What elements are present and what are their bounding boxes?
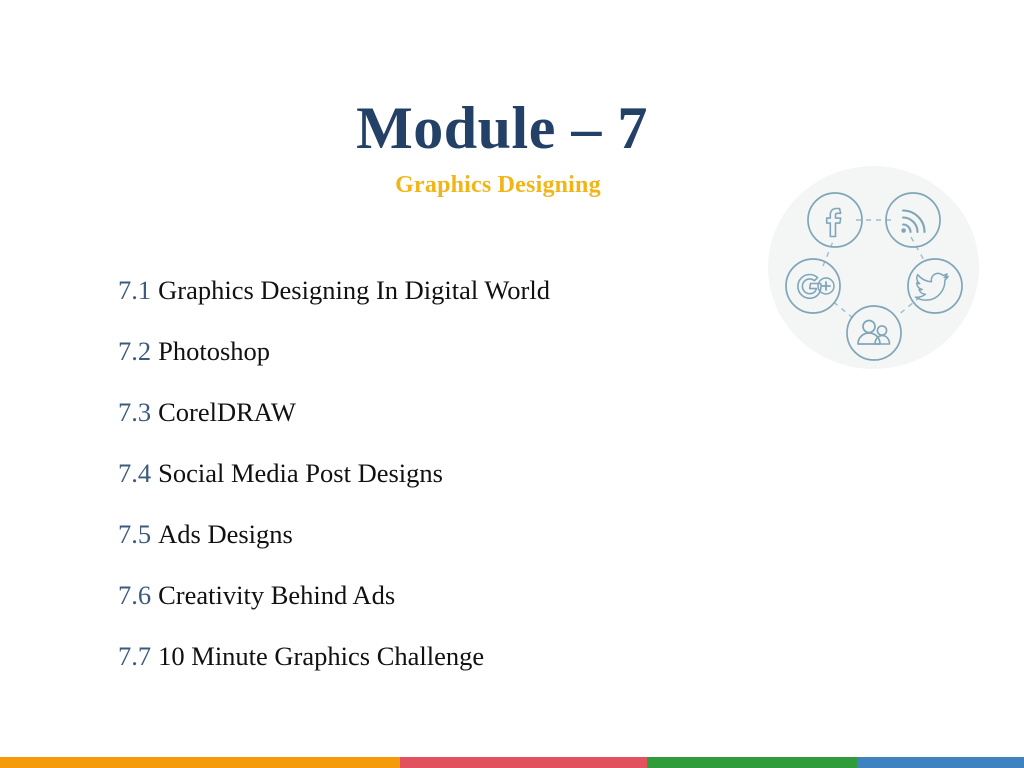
list-item-number: 7.6 — [118, 580, 151, 610]
list-item-label: Graphics Designing In Digital World — [158, 275, 550, 305]
list-item[interactable]: 7.4Social Media Post Designs — [118, 453, 758, 514]
list-item[interactable]: 7.1Graphics Designing In Digital World — [118, 270, 758, 331]
list-item-label: Photoshop — [158, 336, 270, 366]
list-item[interactable]: 7.3CorelDRAW — [118, 392, 758, 453]
list-item-number: 7.7 — [118, 641, 151, 671]
list-item[interactable]: 7.5Ads Designs — [118, 514, 758, 575]
list-item-label: 10 Minute Graphics Challenge — [158, 641, 484, 671]
color-bar-segment-red — [400, 757, 647, 768]
color-bar-segment-orange — [0, 757, 400, 768]
list-item-label: Creativity Behind Ads — [158, 580, 395, 610]
color-bar-segment-green — [647, 757, 857, 768]
contents-list: 7.1Graphics Designing In Digital World 7… — [118, 270, 758, 697]
color-bar-segment-blue — [857, 757, 1024, 768]
page-title: Module – 7 — [0, 96, 1024, 161]
bottom-color-bar — [0, 757, 1024, 768]
list-item[interactable]: 7.2Photoshop — [118, 331, 758, 392]
list-item-label: CorelDRAW — [158, 397, 296, 427]
list-item[interactable]: 7.710 Minute Graphics Challenge — [118, 636, 758, 697]
list-item-label: Ads Designs — [158, 519, 293, 549]
social-media-network-illustration — [768, 166, 979, 369]
list-item-label: Social Media Post Designs — [158, 458, 443, 488]
list-item-number: 7.3 — [118, 397, 151, 427]
list-item-number: 7.2 — [118, 336, 151, 366]
graphic-background-circle — [768, 166, 979, 369]
list-item[interactable]: 7.6Creativity Behind Ads — [118, 575, 758, 636]
list-item-number: 7.5 — [118, 519, 151, 549]
list-item-number: 7.4 — [118, 458, 151, 488]
list-item-number: 7.1 — [118, 275, 151, 305]
slide-canvas: Module – 7 Graphics Designing 7.1Graphic… — [0, 0, 1024, 768]
